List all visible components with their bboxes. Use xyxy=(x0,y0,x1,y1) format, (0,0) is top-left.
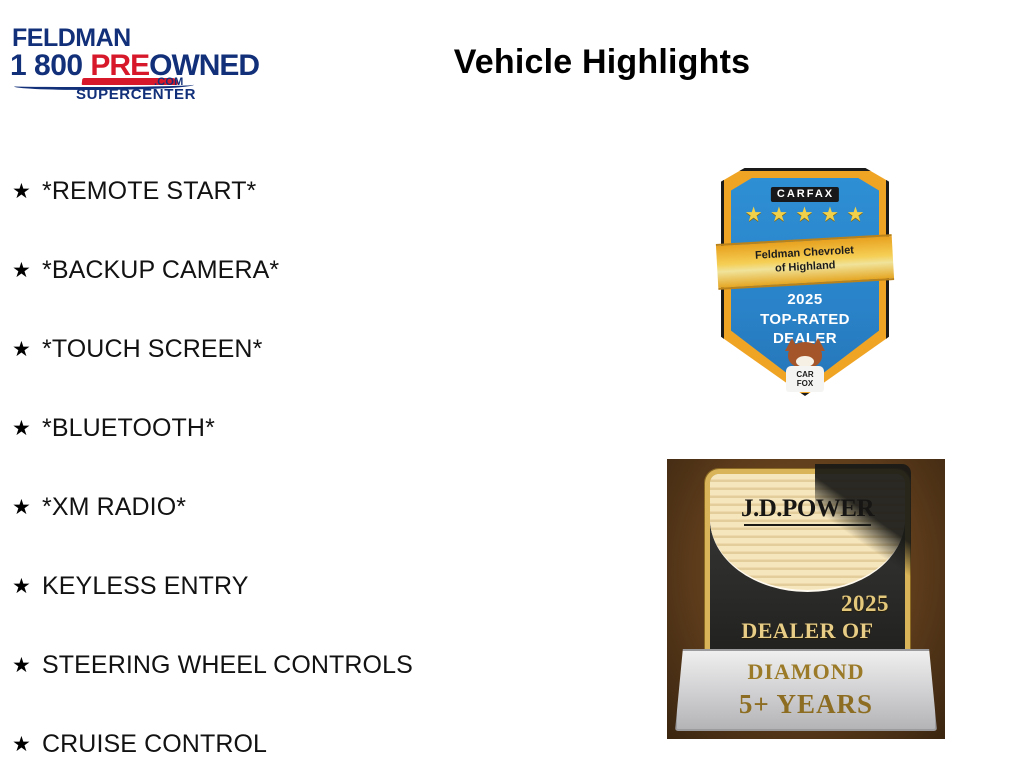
highlight-label: *TOUCH SCREEN* xyxy=(42,335,262,364)
star-bullet-icon: ★ xyxy=(12,734,42,755)
list-item: ★ CRUISE CONTROL xyxy=(12,705,652,768)
list-item: ★ *TOUCH SCREEN* xyxy=(12,310,652,389)
jdpower-tier-label: DIAMOND xyxy=(677,661,935,683)
star-bullet-icon: ★ xyxy=(12,339,42,360)
fox-shirt-text: CAR FOX xyxy=(786,371,824,389)
highlight-label: *BLUETOOTH* xyxy=(42,414,215,443)
carfax-five-stars-icon: ★ ★ ★ ★ ★ xyxy=(721,205,889,225)
list-item: ★ *BLUETOOTH* xyxy=(12,389,652,468)
carfax-top-rated-dealer-badge: CARFAX ★ ★ ★ ★ ★ Feldman Chevrolet of Hi… xyxy=(721,168,889,396)
fox-shirt-line2: FOX xyxy=(786,380,824,389)
star-bullet-icon: ★ xyxy=(12,260,42,281)
fox-shirt: CAR FOX xyxy=(786,366,824,392)
highlight-label: KEYLESS ENTRY xyxy=(42,572,248,601)
jdpower-wordmark: J.D.POWER xyxy=(710,496,905,521)
carfax-wordmark: CARFAX xyxy=(771,187,839,202)
jdpower-award-base: DIAMOND 5+ YEARS xyxy=(675,649,937,731)
jdpower-duration-label: 5+ YEARS xyxy=(677,691,935,718)
highlight-label: CRUISE CONTROL xyxy=(42,730,267,759)
vehicle-highlights-list: ★ *REMOTE START* ★ *BACKUP CAMERA* ★ *TO… xyxy=(12,152,652,768)
list-item: ★ *BACKUP CAMERA* xyxy=(12,231,652,310)
star-bullet-icon: ★ xyxy=(12,497,42,518)
vehicle-highlights-slide: FELDMAN 1 800 PREOWNED .COM SUPERCENTER … xyxy=(0,0,1024,768)
jdpower-dealer-of-excellence-award: J.D.POWER 2025 DEALER OF EXCELLENCE DIAM… xyxy=(667,459,945,739)
star-bullet-icon: ★ xyxy=(12,655,42,676)
jdpower-award-year: 2025 xyxy=(841,592,889,615)
star-bullet-icon: ★ xyxy=(12,418,42,439)
car-fox-mascot-icon: CAR FOX xyxy=(782,340,828,392)
jdpower-award-title-line1: DEALER OF xyxy=(710,618,905,644)
star-bullet-icon: ★ xyxy=(12,576,42,597)
list-item: ★ *REMOTE START* xyxy=(12,152,652,231)
logo-supercenter-text: SUPERCENTER xyxy=(76,86,196,103)
jdpower-wordmark-underline xyxy=(744,524,871,526)
carfax-gold-ribbon: Feldman Chevrolet of Highland xyxy=(716,234,894,290)
list-item: ★ *XM RADIO* xyxy=(12,468,652,547)
list-item: ★ STEERING WHEEL CONTROLS xyxy=(12,626,652,705)
list-item: ★ KEYLESS ENTRY xyxy=(12,547,652,626)
star-bullet-icon: ★ xyxy=(12,181,42,202)
highlight-label: *XM RADIO* xyxy=(42,493,186,522)
highlight-label: STEERING WHEEL CONTROLS xyxy=(42,651,413,680)
carfax-dealer-name: Feldman Chevrolet of Highland xyxy=(716,242,893,279)
page-title: Vehicle Highlights xyxy=(0,43,1024,82)
highlight-label: *REMOTE START* xyxy=(42,177,256,206)
highlight-label: *BACKUP CAMERA* xyxy=(42,256,279,285)
carfax-award-year: 2025 xyxy=(721,292,889,307)
carfax-award-title-line1: TOP-RATED xyxy=(721,311,889,330)
